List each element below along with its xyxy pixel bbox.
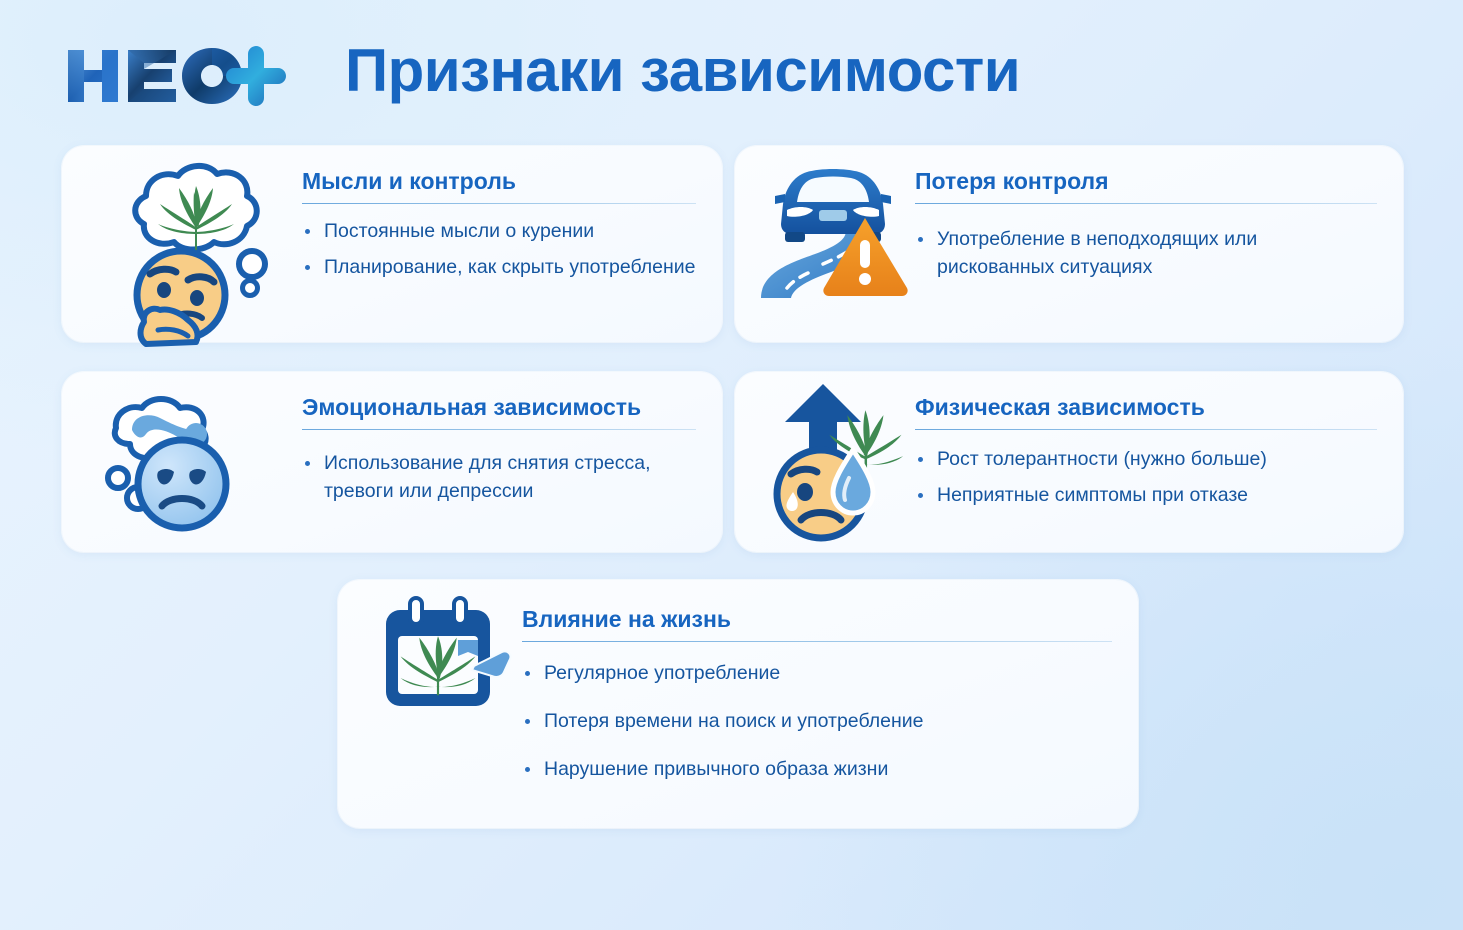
card-title: Эмоциональная зависимость — [302, 394, 696, 420]
bullet-dot-icon — [525, 671, 530, 676]
calendar-leaf-joint-icon — [374, 596, 514, 721]
list-item-label: Неприятные симптомы при отказе — [937, 484, 1248, 506]
card-body: Потеря контроля Употребление в неподходя… — [915, 168, 1377, 282]
list-item: Потеря времени на поиск и употребление — [522, 708, 1112, 736]
card-physical-dependence[interactable]: Физическая зависимость Рост толерантност… — [735, 372, 1403, 552]
list-item: Регулярное употребление — [522, 660, 1112, 688]
bullet-list: Рост толерантности (нужно больше) Неприя… — [915, 446, 1377, 509]
list-item-label: Потеря времени на поиск и употребление — [544, 710, 923, 732]
list-item-label: Рост толерантности (нужно больше) — [937, 448, 1267, 470]
list-item: Использование для снятия стресса, тревог… — [302, 450, 696, 505]
list-item: Постоянные мысли о курении — [302, 218, 696, 246]
card-title: Влияние на жизнь — [522, 606, 1112, 632]
header: Признаки зависимости — [0, 0, 1463, 140]
up-arrow-leaf-sweating-face-icon — [757, 382, 917, 547]
thought-cloud-sad-face-icon — [90, 386, 250, 546]
title-divider — [522, 641, 1112, 642]
infographic-page: Признаки зависимости — [0, 0, 1463, 930]
list-item-label: Употребление в неподходящих или рискован… — [937, 228, 1257, 278]
title-divider — [915, 203, 1377, 204]
card-emotional-dependence[interactable]: Эмоциональная зависимость Использование … — [62, 372, 722, 552]
list-item-label: Планирование, как скрыть употребление — [324, 256, 695, 278]
bullet-dot-icon — [918, 457, 923, 462]
list-item: Рост толерантности (нужно больше) — [915, 446, 1377, 474]
list-item-label: Использование для снятия стресса, тревог… — [324, 452, 651, 502]
card-loss-of-control[interactable]: Потеря контроля Употребление в неподходя… — [735, 146, 1403, 342]
neo-plus-logo — [62, 40, 292, 112]
bullet-dot-icon — [305, 461, 310, 466]
car-road-warning-triangle-icon — [753, 162, 913, 307]
card-title: Потеря контроля — [915, 168, 1377, 194]
card-body: Мысли и контроль Постоянные мысли о куре… — [302, 168, 696, 282]
bullet-list: Регулярное употребление Потеря времени н… — [522, 660, 1112, 783]
title-divider — [302, 429, 696, 430]
bullet-list: Постоянные мысли о курении Планирование,… — [302, 218, 696, 281]
card-title: Физическая зависимость — [915, 394, 1377, 420]
bullet-dot-icon — [305, 229, 310, 234]
list-item: Употребление в неподходящих или рискован… — [915, 226, 1300, 281]
title-divider — [915, 429, 1377, 430]
bullet-dot-icon — [305, 265, 310, 270]
list-item-label: Постоянные мысли о курении — [324, 220, 594, 242]
list-item: Планирование, как скрыть употребление — [302, 254, 696, 282]
list-item: Нарушение привычного образа жизни — [522, 756, 1112, 784]
card-title: Мысли и контроль — [302, 168, 696, 194]
bullet-dot-icon — [525, 767, 530, 772]
card-thoughts-and-control[interactable]: Мысли и контроль Постоянные мысли о куре… — [62, 146, 722, 342]
list-item: Неприятные симптомы при отказе — [915, 482, 1377, 510]
thought-cloud-leaf-thinking-face-icon — [84, 158, 294, 353]
list-item-label: Нарушение привычного образа жизни — [544, 758, 888, 780]
page-title: Признаки зависимости — [345, 38, 1020, 104]
title-divider — [302, 203, 696, 204]
list-item-label: Регулярное употребление — [544, 662, 780, 684]
bullet-dot-icon — [918, 237, 923, 242]
bullet-list: Употребление в неподходящих или рискован… — [915, 226, 1377, 281]
card-body: Физическая зависимость Рост толерантност… — [915, 394, 1377, 510]
card-body: Эмоциональная зависимость Использование … — [302, 394, 696, 506]
bullet-list: Использование для снятия стресса, тревог… — [302, 450, 696, 505]
card-body: Влияние на жизнь Регулярное употребление… — [522, 606, 1112, 804]
card-impact-on-life[interactable]: Влияние на жизнь Регулярное употребление… — [338, 580, 1138, 828]
bullet-dot-icon — [918, 493, 923, 498]
bullet-dot-icon — [525, 719, 530, 724]
